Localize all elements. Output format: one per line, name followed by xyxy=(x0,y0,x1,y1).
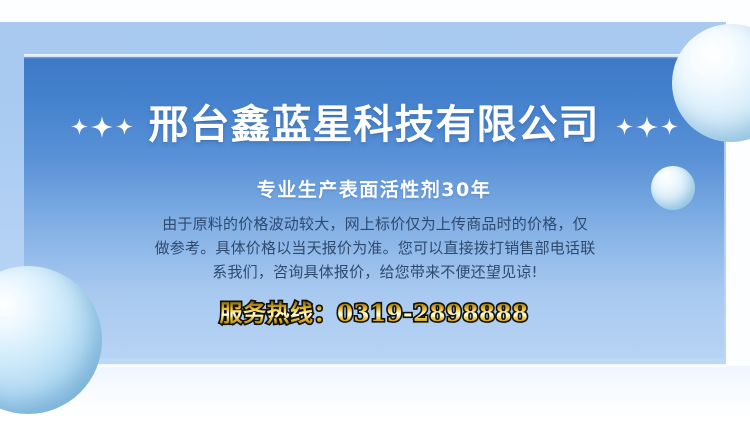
hotline-fill-layer: 服务热线：0319-2898888 xyxy=(219,300,528,327)
sparkle-cluster-left xyxy=(71,116,133,138)
banner-content: 邢台鑫蓝星科技有限公司 专业生产表面活性剂30年 由于原料的价格波动较大，网上标… xyxy=(24,57,724,358)
sparkle-star-icon xyxy=(616,118,633,135)
sparkle-star-icon xyxy=(71,118,88,135)
sparkle-star-icon xyxy=(91,116,113,138)
hotline-text-wrapper: 服务热线：0319-2898888 服务热线：0319-2898888 xyxy=(219,294,528,328)
company-banner: 邢台鑫蓝星科技有限公司 专业生产表面活性剂30年 由于原料的价格波动较大，网上标… xyxy=(0,0,750,422)
panel-bottom-highlight-seam xyxy=(0,364,726,367)
sparkle-star-icon xyxy=(661,118,678,135)
sparkle-star-icon xyxy=(116,118,133,135)
title-row: 邢台鑫蓝星科技有限公司 xyxy=(24,105,724,145)
lower-white-strip xyxy=(0,366,750,422)
notice-line: 系我们，咨询具体报价，给您带来不便还望见谅! xyxy=(70,260,680,284)
notice-line: 由于原料的价格波动较大，网上标价仅为上传商品时的价格，仅 xyxy=(70,212,680,236)
banner-subtitle: 专业生产表面活性剂30年 xyxy=(24,175,724,202)
service-hotline: 服务热线：0319-2898888 服务热线：0319-2898888 xyxy=(24,294,724,328)
sparkle-cluster-right xyxy=(616,116,678,138)
price-notice-paragraph: 由于原料的价格波动较大，网上标价仅为上传商品时的价格，仅 做参考。具体价格以当天… xyxy=(70,212,680,284)
sparkle-star-icon xyxy=(636,116,658,138)
notice-line: 做参考。具体价格以当天报价为准。您可以直接拨打销售部电话联 xyxy=(70,236,680,260)
company-title: 邢台鑫蓝星科技有限公司 xyxy=(149,105,600,145)
